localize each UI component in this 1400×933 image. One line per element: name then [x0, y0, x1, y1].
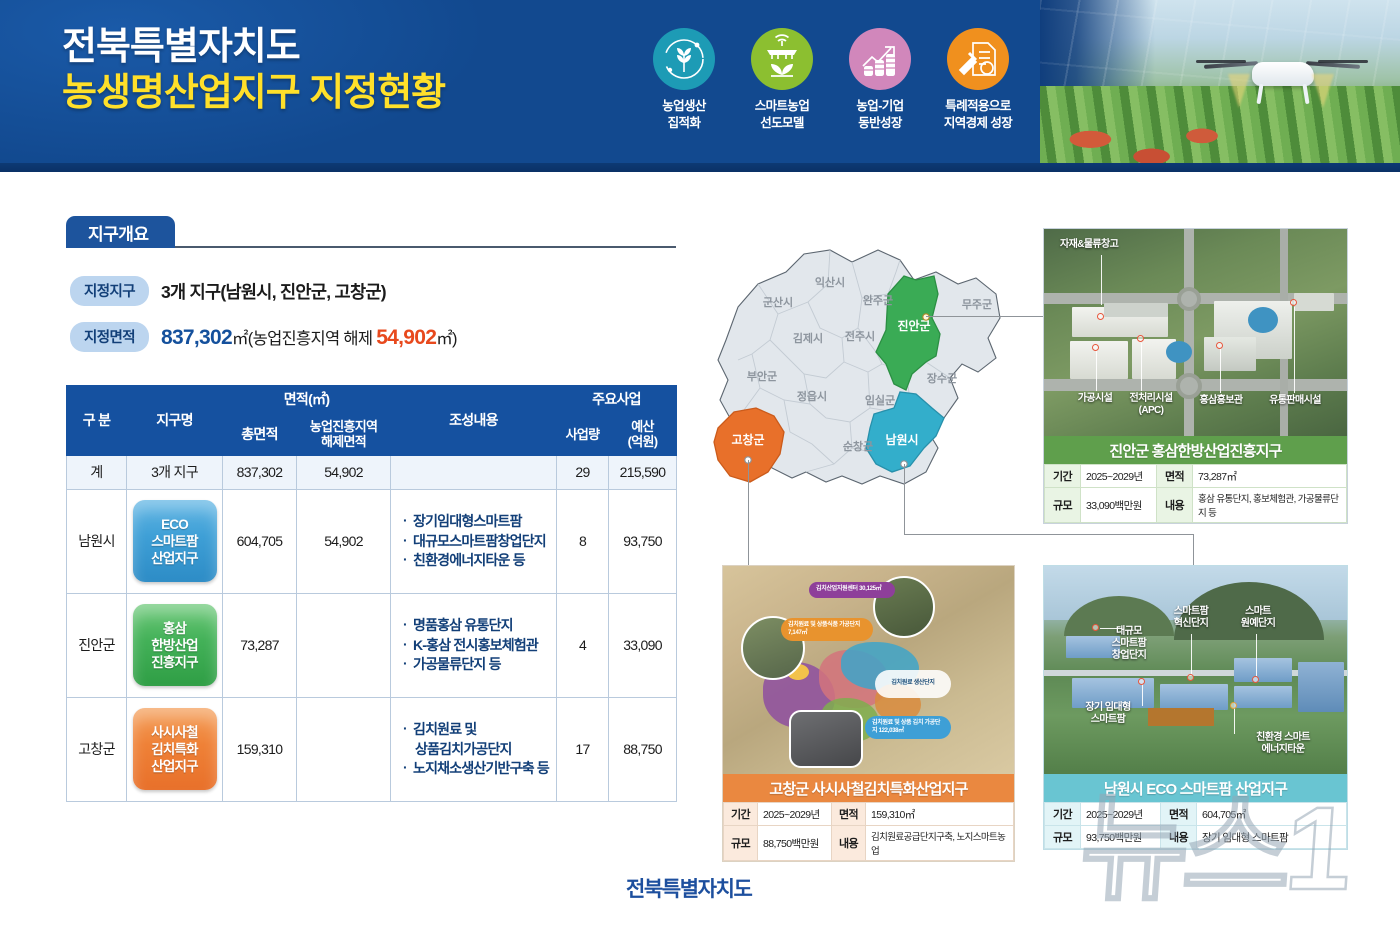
content-bullet-list: 명품홍삼 유통단지 K-홍삼 전시홍보체험관 가공물류단지 등 [403, 616, 550, 676]
card-key: 내용 [832, 826, 866, 861]
photo-card-gochang[interactable]: 김치산업지원센터 30,125㎡ 김치원료 및 상품식품 가공단지 7,147㎡… [722, 565, 1015, 862]
annotation: 홍삼홍보관 [1190, 395, 1252, 407]
annotation: 전처리시설 (APC) [1118, 393, 1184, 417]
card-key: 면적 [832, 803, 866, 826]
annotation-leader-line [1141, 343, 1142, 391]
cell-area-release: 54,902 [297, 489, 391, 593]
annotation-leader-line [1142, 684, 1143, 706]
badge-label: 스마트농업 선도모델 [740, 98, 824, 131]
card-table-row: 규모 33,090백만원 내용 홍삼 유통단지, 홍보체험관, 가공물류단지 등 [1045, 488, 1347, 523]
annotation-marker [1187, 674, 1194, 681]
cell-content: 김치원료 및 상품김치가공단지 노지채소생산기반구축 등 [391, 697, 557, 801]
badge-agri-production: 농업생산 집적화 [642, 28, 726, 131]
cell-gubun: 계 [67, 455, 127, 489]
cell-budget: 215,590 [609, 455, 677, 489]
card-value: 93,750백만원 [1081, 826, 1161, 849]
map-label-jeongeup: 정읍시 [797, 389, 827, 403]
cell-project-count: 17 [557, 697, 609, 801]
annotation-leader-line [1256, 634, 1257, 676]
list-item: K-홍삼 전시홍보체험관 [403, 636, 550, 656]
th-area-total: 총면적 [223, 413, 297, 455]
badge-label: 특례적용으로 지역경제 성장 [936, 98, 1020, 131]
cell-content [391, 455, 557, 489]
area-total-value: 837,302 [161, 326, 232, 349]
banner-bottom-stripe [0, 163, 1400, 172]
card-value: 159,310㎡ [866, 803, 1014, 826]
smart-farm-wifi-icon [751, 28, 813, 90]
title-line-2: 농생명산업지구 지정현황 [62, 70, 445, 116]
photo-card-jinan[interactable]: 자재&물류창고 가공시설 전처리시설 (APC) 홍삼홍보관 유통판매시설 진안… [1043, 228, 1348, 524]
cell-budget: 88,750 [609, 697, 677, 801]
area-release-value: 54,902 [376, 326, 436, 349]
feature-badges: 농업생산 집적화 스마트농업 선도모델 [642, 28, 1020, 131]
card-image-jinan: 자재&물류창고 가공시설 전처리시설 (APC) 홍삼홍보관 유통판매시설 [1044, 229, 1347, 436]
list-item: 상품김치가공단지 [403, 740, 550, 760]
map-label-jangsu: 장수군 [927, 371, 957, 385]
inset-photo-kimchi-plant [789, 710, 863, 768]
cell-area-release [297, 593, 391, 697]
annotation-marker [1092, 344, 1099, 351]
badge-label: 농업-기업 동반성장 [838, 98, 922, 131]
card-table-row: 규모 88,750백만원 내용 김치원료공급단지구축, 노지스마트농업 [724, 826, 1014, 861]
cell-area-total: 837,302 [223, 455, 297, 489]
map-label-gochang: 고창군 [731, 432, 764, 447]
annotation-marker [1290, 299, 1297, 306]
cell-gubun: 고창군 [67, 697, 127, 801]
list-item: 친환경에너지타운 등 [403, 551, 550, 571]
annotation-marker [1252, 676, 1259, 683]
map-label-imsil: 임실군 [865, 393, 895, 407]
footer-logo: 전북특별자치도 [626, 873, 751, 903]
list-item: 김치원료 및 [403, 720, 550, 740]
badge-label: 농업생산 집적화 [642, 98, 726, 131]
overview-pill: 지정면적 [70, 322, 149, 352]
overview-pill: 지정지구 [70, 276, 149, 306]
cell-area-release: 54,902 [297, 455, 391, 489]
overview-row-designated-area: 지정면적 837,302㎡(농업진흥지역 해제 54,902㎡) [70, 322, 457, 352]
card-key: 기간 [1045, 803, 1081, 826]
wheat-sprout-icon [653, 28, 715, 90]
card-value: 김치원료공급단지구축, 노지스마트농업 [866, 826, 1014, 861]
bubble-processing-complex: 김치원료 및 상품식품 가공단지 7,147㎡ [781, 618, 873, 641]
footer-logo-rest: 특별자치도 [662, 878, 752, 901]
card-image-gochang: 김치산업지원센터 30,125㎡ 김치원료 및 상품식품 가공단지 7,147㎡… [723, 566, 1014, 774]
annotation: 유통판매시설 [1256, 395, 1334, 407]
connector-gochang-vertical [748, 460, 749, 565]
cell-area-total: 73,287 [223, 593, 297, 697]
annotation-marker [1230, 702, 1237, 709]
card-value: 홍삼 유통단지, 홍보체험관, 가공물류단지 등 [1193, 488, 1347, 523]
th-project-count: 사업량 [557, 413, 609, 455]
map-label-wanju: 완주군 [863, 294, 893, 307]
card-value: 88,750백만원 [758, 826, 832, 861]
annotation-leader-line [1294, 307, 1295, 393]
header-banner: 전북특별자치도 농생명산업지구 지정현황 농업생산 집적화 [0, 0, 1400, 172]
card-title-namwon: 남원시 ECO 스마트팜 산업지구 [1044, 774, 1347, 802]
map-label-namwon: 남원시 [885, 432, 918, 447]
badge-agri-business-growth: 농업-기업 동반성장 [838, 28, 922, 131]
title-line-1: 전북특별자치도 [62, 24, 445, 70]
card-key: 규모 [1045, 488, 1081, 523]
th-major-group: 주요사업 [557, 386, 677, 414]
area-paren-pre: (농업진흥지역 해제 [248, 330, 376, 348]
cell-project-count: 4 [557, 593, 609, 697]
section-header: 지구개요 [66, 216, 676, 248]
card-table-row: 기간 2025~2029년 면적 159,310㎡ [724, 803, 1014, 826]
annotation: 가공시설 [1066, 393, 1124, 405]
card-value: 장기 임대형 스마트팜 [1197, 826, 1347, 849]
overview-value: 837,302㎡(농업진흥지역 해제 54,902㎡) [161, 325, 457, 350]
cell-zone-badge: 홍삼 한방산업 진흥지구 [127, 593, 223, 697]
card-table-row: 규모 93,750백만원 내용 장기 임대형 스마트팜 [1045, 826, 1347, 849]
card-value: 2025~2029년 [1081, 803, 1161, 826]
bubble-kimchi-raw-material-zone: 김치원료 생산단지 [875, 670, 951, 698]
photo-card-namwon[interactable]: 스마트팜 혁신단지 스마트 원예단지 대규모 스마트팜 창업단지 장기 임대형 … [1043, 565, 1348, 850]
greenhouse-drone-photo [1040, 0, 1400, 172]
annotation-leader-line [1100, 628, 1122, 629]
section-tab-label: 지구개요 [66, 216, 175, 248]
cell-project-count: 8 [557, 489, 609, 593]
card-table-row: 기간 2025~2029년 면적 73,287㎡ [1045, 465, 1347, 488]
cell-area-total: 604,705 [223, 489, 297, 593]
card-value: 2025~2029년 [758, 803, 832, 826]
table-header-row-1: 구 분 지구명 면적(㎡) 조성내용 주요사업 [67, 386, 677, 414]
annotation-leader-line [1101, 255, 1102, 305]
card-key: 기간 [724, 803, 758, 826]
list-item: 가공물류단지 등 [403, 655, 550, 675]
zone-summary-table: 구 분 지구명 면적(㎡) 조성내용 주요사업 총면적 농업진흥지역 해제면적 … [66, 385, 677, 802]
zone-badge-gochang: 사시사철 김치특화 산업지구 [133, 708, 217, 790]
card-detail-table-namwon: 기간 2025~2029년 면적 604,705㎡ 규모 93,750백만원 내… [1044, 802, 1347, 849]
card-value: 33,090백만원 [1081, 488, 1157, 523]
card-table-row: 기간 2025~2029년 면적 604,705㎡ [1045, 803, 1347, 826]
zone-badge-jinan: 홍삼 한방산업 진흥지구 [133, 604, 217, 686]
jeonbuk-region-map: 군산시 익산시 완주군 무주군 김제시 전주시 부안군 정읍시 임실군 장수군 … [700, 232, 1030, 522]
annotation-leader-line [1220, 349, 1221, 393]
footer-logo-bold: 전북 [626, 878, 662, 901]
annotation: 스마트 원예단지 [1230, 606, 1286, 630]
th-zone-name: 지구명 [127, 386, 223, 456]
list-item: 장기임대형스마트팜 [403, 512, 550, 532]
annotation-marker [1216, 342, 1223, 349]
annotation-leader-line [1234, 708, 1235, 734]
table-row: 남원시 ECO 스마트팜 산업지구 604,705 54,902 장기임대형스마… [67, 489, 677, 593]
card-value: 604,705㎡ [1197, 803, 1347, 826]
zone-badge-namwon: ECO 스마트팜 산업지구 [133, 500, 217, 582]
overview-row-designated-zones: 지정지구 3개 지구(남원시, 진안군, 고창군) [70, 276, 386, 306]
cell-zone-badge: 사시사철 김치특화 산업지구 [127, 697, 223, 801]
annotation: 스마트팜 혁신단지 [1160, 606, 1222, 630]
cell-gubun: 남원시 [67, 489, 127, 593]
card-key: 면적 [1157, 465, 1193, 488]
annotation-marker [1097, 313, 1104, 320]
map-label-buan: 부안군 [747, 369, 777, 383]
badge-special-exception: 특례적용으로 지역경제 성장 [936, 28, 1020, 131]
connector-namwon-horizontal [904, 534, 1194, 535]
card-key: 면적 [1161, 803, 1197, 826]
th-area-group: 면적(㎡) [223, 386, 391, 414]
cell-area-release [297, 697, 391, 801]
map-label-muju: 무주군 [962, 298, 992, 311]
badge-smart-farm: 스마트농업 선도모델 [740, 28, 824, 131]
annotation: 장기 임대형 스마트팜 [1076, 702, 1140, 726]
cell-project-count: 29 [557, 455, 609, 489]
map-label-jeonju: 전주시 [845, 329, 875, 343]
cell-gubun: 진안군 [67, 593, 127, 697]
list-item: 명품홍삼 유통단지 [403, 616, 550, 636]
page-title: 전북특별자치도 농생명산업지구 지정현황 [62, 24, 445, 117]
card-value: 2025~2029년 [1081, 465, 1157, 488]
card-value: 73,287㎡ [1193, 465, 1347, 488]
content-bullet-list: 장기임대형스마트팜 대규모스마트팜창업단지 친환경에너지타운 등 [403, 512, 550, 572]
card-title-jinan: 진안군 홍삼한방산업진흥지구 [1044, 436, 1347, 464]
cell-content: 명품홍삼 유통단지 K-홍삼 전시홍보체험관 가공물류단지 등 [391, 593, 557, 697]
card-detail-table-gochang: 기간 2025~2029년 면적 159,310㎡ 규모 88,750백만원 내… [723, 802, 1014, 861]
card-detail-table-jinan: 기간 2025~2029년 면적 73,287㎡ 규모 33,090백만원 내용… [1044, 464, 1347, 523]
bubble-kimchi-processing-zone: 김치원료 및 상품 김치 가공단지 122,038㎡ [865, 716, 951, 739]
cell-zone-badge: ECO 스마트팜 산업지구 [127, 489, 223, 593]
annotation: 친환경 스마트 에너지타운 [1236, 732, 1330, 756]
overview-value: 3개 지구(남원시, 진안군, 고창군) [161, 279, 386, 304]
map-label-iksan: 익산시 [815, 275, 845, 289]
cell-budget: 33,090 [609, 593, 677, 697]
map-label-gimje: 김제시 [793, 331, 823, 345]
content-bullet-list: 김치원료 및 상품김치가공단지 노지채소생산기반구축 등 [403, 720, 550, 780]
bubble-kimchi-support-center: 김치산업지원센터 30,125㎡ [809, 582, 895, 598]
annotation-marker [1092, 624, 1099, 631]
annotation-leader-line [1191, 634, 1192, 674]
map-label-gunsan: 군산시 [763, 295, 793, 309]
annotation: 자재&물류창고 [1060, 239, 1158, 251]
th-area-release: 농업진흥지역 해제면적 [297, 413, 391, 455]
list-item: 노지채소생산기반구축 등 [403, 759, 550, 779]
card-key: 규모 [724, 826, 758, 861]
connector-namwon-vertical [904, 464, 905, 534]
gavel-document-icon [947, 28, 1009, 90]
cell-zone-name: 3개 지구 [127, 455, 223, 489]
agriculture-drone-icon [1208, 44, 1356, 106]
map-label-sunchang: 순창군 [843, 439, 873, 453]
card-key: 규모 [1045, 826, 1081, 849]
list-item: 대규모스마트팜창업단지 [403, 532, 550, 552]
card-image-namwon: 스마트팜 혁신단지 스마트 원예단지 대규모 스마트팜 창업단지 장기 임대형 … [1044, 566, 1347, 774]
annotation-leader-line [1096, 351, 1097, 391]
connector-namwon-down [1193, 534, 1194, 565]
card-title-gochang: 고창군 사시사철김치특화산업지구 [723, 774, 1014, 802]
card-key: 내용 [1161, 826, 1197, 849]
cell-area-total: 159,310 [223, 697, 297, 801]
map-marker-jinan[interactable] [923, 314, 929, 320]
card-key: 내용 [1157, 488, 1193, 523]
th-budget: 예산 (억원) [609, 413, 677, 455]
connector-jinan-horizontal [926, 316, 1044, 317]
annotation-marker [1138, 678, 1145, 685]
annotation: 대규모 스마트팜 창업단지 [1102, 626, 1156, 662]
annotation-marker [1137, 335, 1144, 342]
map-svg: 군산시 익산시 완주군 무주군 김제시 전주시 부안군 정읍시 임실군 장수군 … [700, 232, 1030, 522]
cell-budget: 93,750 [609, 489, 677, 593]
growth-chart-coins-icon [849, 28, 911, 90]
table-row: 진안군 홍삼 한방산업 진흥지구 73,287 명품홍삼 유통단지 K-홍삼 전… [67, 593, 677, 697]
area-paren-post: ㎡) [436, 330, 457, 348]
th-gubun: 구 분 [67, 386, 127, 456]
area-unit: ㎡ [232, 330, 248, 348]
table-row-total: 계 3개 지구 837,302 54,902 29 215,590 [67, 455, 677, 489]
th-content: 조성내용 [391, 386, 557, 456]
cell-content: 장기임대형스마트팜 대규모스마트팜창업단지 친환경에너지타운 등 [391, 489, 557, 593]
card-key: 기간 [1045, 465, 1081, 488]
table-row: 고창군 사시사철 김치특화 산업지구 159,310 김치원료 및 상품김치가공… [67, 697, 677, 801]
